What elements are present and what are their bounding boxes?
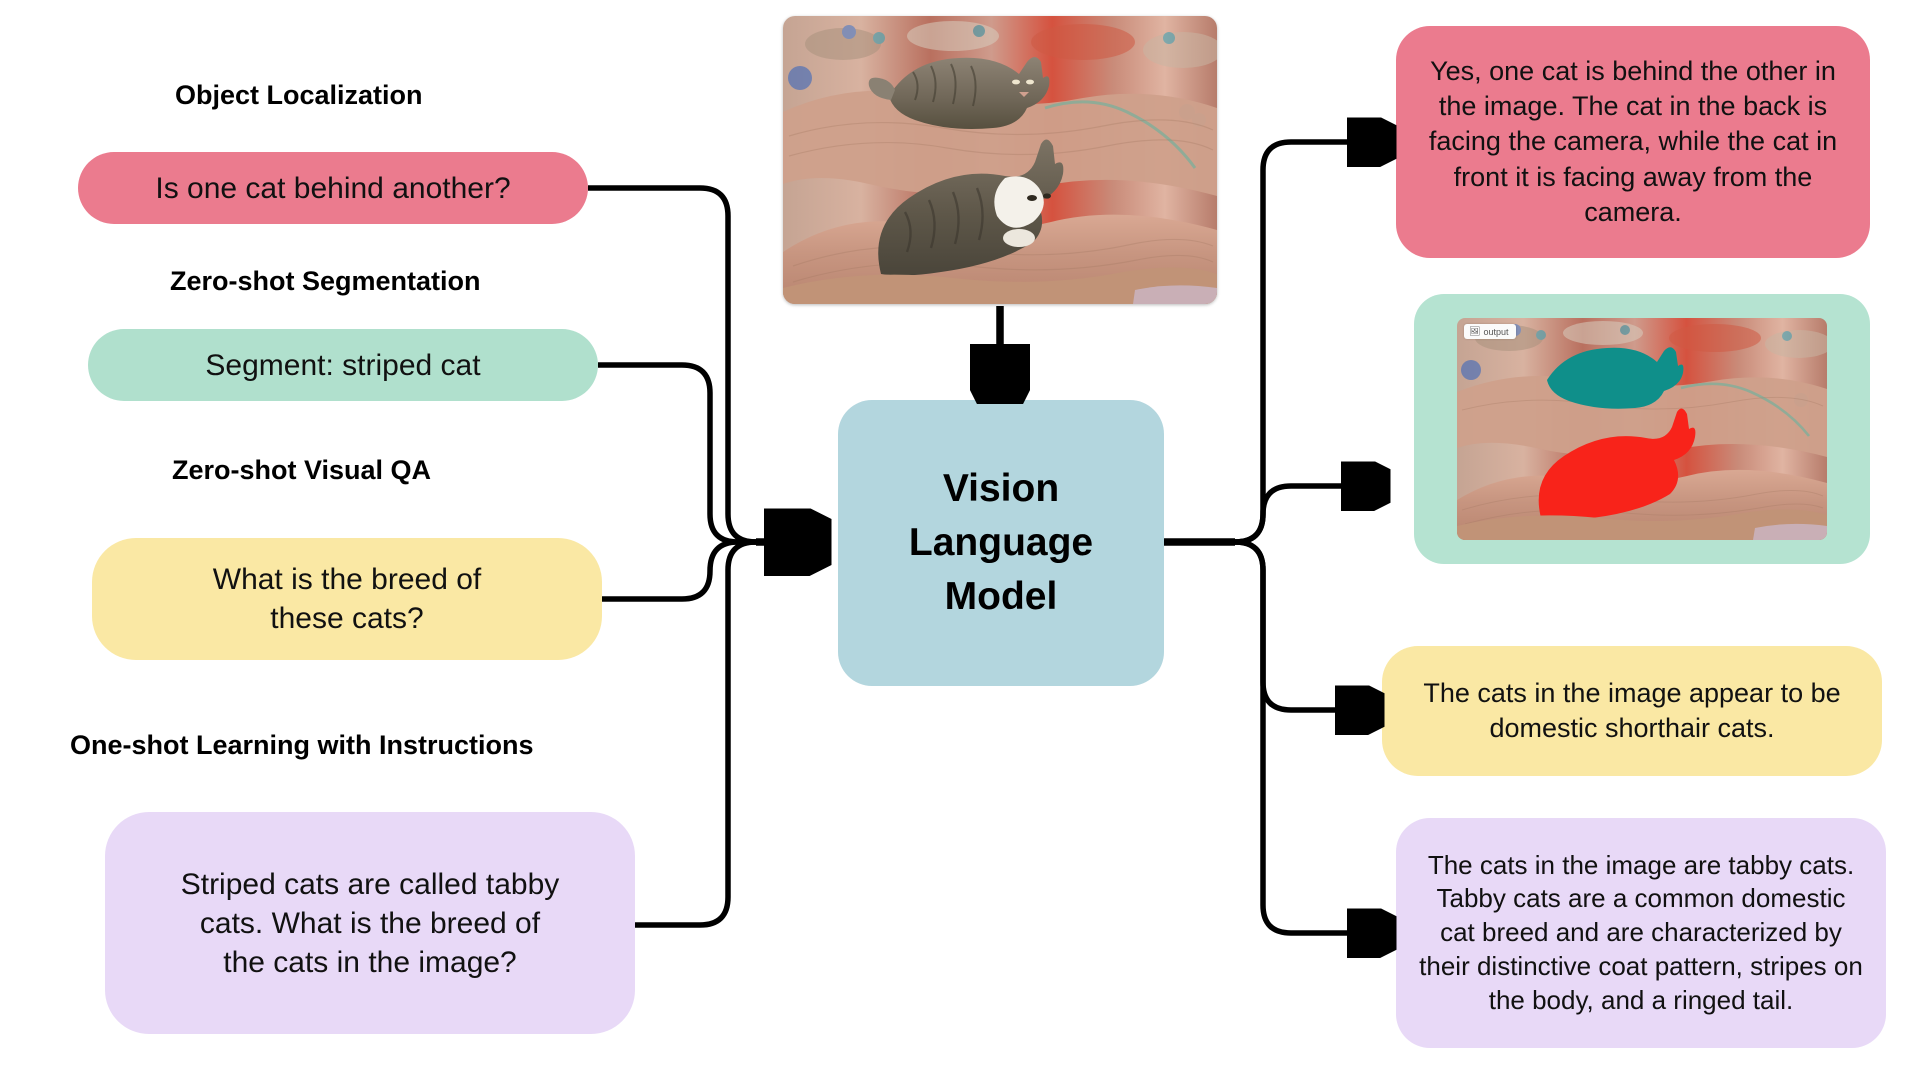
vision-language-model-box[interactable]: Vision Language Model	[838, 400, 1164, 686]
task-title-object-localization: Object Localization	[175, 80, 423, 111]
prompt-zero-shot-visual-qa: What is the breed of these cats?	[92, 538, 602, 660]
prompt-one-shot-learning: Striped cats are called tabby cats. What…	[105, 812, 635, 1034]
output-segmentation-card: 🖼 output	[1414, 294, 1870, 564]
wire-out-segmentation	[1235, 486, 1376, 542]
input-photo-illustration	[783, 16, 1217, 304]
input-image-two-cats	[783, 16, 1217, 304]
task-title-zero-shot-visual-qa: Zero-shot Visual QA	[172, 455, 431, 486]
wire-oneshot-to-model	[635, 542, 812, 925]
output-visual-qa: The cats in the image appear to be domes…	[1382, 646, 1882, 776]
wire-segmentation-to-model	[598, 365, 812, 542]
wire-vqa-to-model	[602, 542, 812, 599]
segmentation-result-image: 🖼 output	[1457, 318, 1827, 540]
wire-out-vqa	[1235, 542, 1370, 710]
wire-out-localization	[1235, 142, 1382, 542]
wire-out-oneshot	[1235, 542, 1382, 933]
wire-localization-to-model	[588, 188, 812, 542]
diagram-canvas: Object Localization Zero-shot Segmentati…	[0, 0, 1920, 1080]
segmentation-badge-label: output	[1483, 327, 1508, 337]
task-title-one-shot-learning: One-shot Learning with Instructions	[70, 730, 534, 761]
prompt-zero-shot-segmentation: Segment: striped cat	[88, 329, 598, 401]
task-title-zero-shot-segmentation: Zero-shot Segmentation	[170, 266, 481, 297]
output-object-localization: Yes, one cat is behind the other in the …	[1396, 26, 1870, 258]
image-icon: 🖼	[1469, 326, 1480, 337]
segmentation-output-badge: 🖼 output	[1464, 324, 1516, 339]
prompt-object-localization: Is one cat behind another?	[78, 152, 588, 224]
segmentation-photo-illustration	[1457, 318, 1827, 540]
output-one-shot-learning: The cats in the image are tabby cats. Ta…	[1396, 818, 1886, 1048]
